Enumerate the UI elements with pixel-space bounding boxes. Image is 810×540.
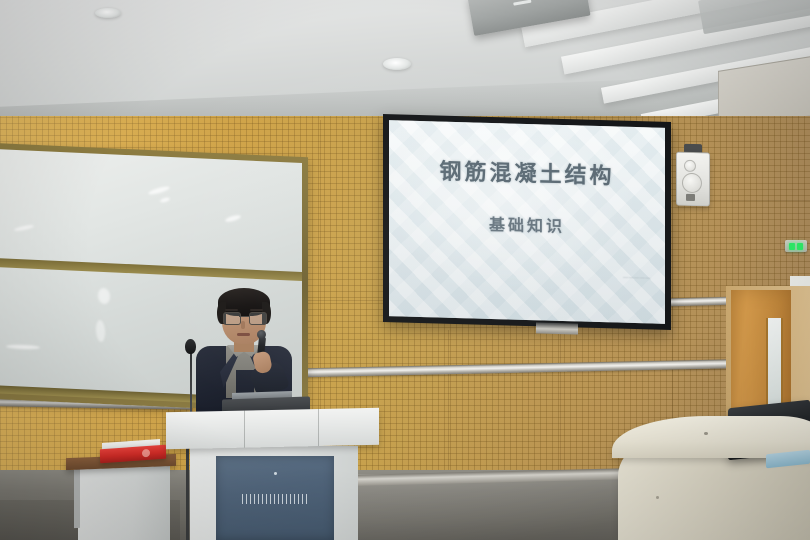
- speaker-badge: [686, 194, 695, 201]
- podium-indicator-icon: [274, 472, 277, 475]
- podium-front-panel: [216, 456, 334, 540]
- emergency-exit-sign-icon: [785, 240, 807, 252]
- gooseneck-microphone[interactable]: [185, 339, 196, 354]
- side-table-body: [78, 466, 170, 540]
- nose: [241, 321, 245, 329]
- eyeglass-lens: [223, 312, 241, 325]
- podium-worktop: [166, 408, 379, 449]
- podium-cable: [186, 446, 189, 540]
- tweeter-icon: [684, 160, 696, 172]
- wall-panel-seam: [560, 330, 561, 470]
- side-table-edge: [74, 468, 80, 528]
- slide-footnote: —————: [623, 275, 651, 282]
- desk-fastener-icon: [656, 496, 659, 499]
- screen-mount-bracket: [536, 322, 578, 334]
- wall-panel-seam: [448, 330, 449, 470]
- lecture-hall-photo: 钢筋混凝土结构 基础知识 —————: [0, 0, 810, 540]
- podium-vent-grille: [242, 494, 308, 504]
- eyeglass-bridge: [239, 316, 249, 317]
- woofer-icon: [682, 173, 702, 193]
- microphone-stand-rod: [190, 352, 192, 414]
- recessed-downlight-icon: [95, 8, 121, 18]
- eyeglass-lens: [249, 312, 267, 325]
- exit-sign-led-icon: [789, 243, 795, 250]
- eyebrow: [225, 309, 238, 311]
- recessed-downlight-icon: [383, 58, 411, 70]
- exit-sign-led-icon: [797, 243, 803, 250]
- folder-emblem-icon: [142, 449, 150, 458]
- podium-seam: [244, 411, 245, 448]
- eyebrow: [250, 309, 263, 311]
- desk-fastener-icon: [704, 432, 708, 435]
- podium-seam: [318, 409, 319, 446]
- projector-indicator-icon: [513, 0, 531, 6]
- projection-screen: 钢筋混凝土结构 基础知识 —————: [389, 120, 665, 324]
- wall-mounted-loudspeaker: [676, 152, 710, 207]
- mouth: [237, 333, 250, 336]
